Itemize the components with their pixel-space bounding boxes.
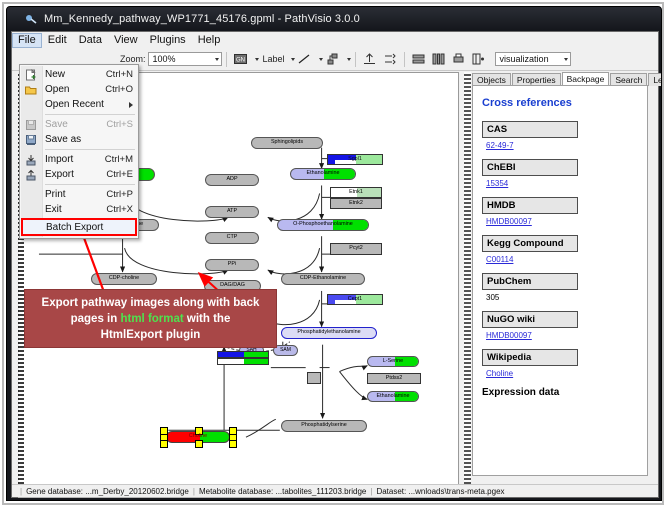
- file-menu-save-as-label: Save as: [45, 134, 133, 145]
- node-etnk1[interactable]: Etnk1: [330, 187, 382, 198]
- application-window: Mm_Kennedy_pathway_WP1771_45176.gpml - P…: [6, 6, 662, 501]
- xref-value-wikipedia[interactable]: Choline: [486, 369, 638, 378]
- tab-legend[interactable]: Legend: [648, 73, 662, 86]
- file-menu-exit-label: Exit: [45, 204, 106, 215]
- order-icon[interactable]: [382, 51, 398, 67]
- status-gene-database-label: Gene database:: [26, 487, 83, 496]
- title-bar: Mm_Kennedy_pathway_WP1771_45176.gpml - P…: [7, 7, 661, 31]
- node-pcyt2[interactable]: Pcyt2: [330, 243, 382, 255]
- menu-data[interactable]: Data: [73, 33, 108, 48]
- label-button[interactable]: Label: [263, 54, 285, 64]
- xref-header-wikipedia: Wikipedia: [482, 349, 578, 366]
- pathvisio-icon: [25, 13, 38, 26]
- export-icon: [24, 168, 38, 181]
- save-as-icon: [24, 133, 38, 146]
- toolbar-separator: [226, 52, 227, 67]
- node-pisd-top[interactable]: [217, 351, 269, 358]
- status-dataset-value: ...wnloads\trans-meta.pgex: [408, 487, 504, 496]
- screenshot-root: Mm_Kennedy_pathway_WP1771_45176.gpml - P…: [0, 0, 670, 509]
- datanode-dropdown-icon[interactable]: [255, 58, 259, 61]
- datanode-icon[interactable]: GN: [233, 51, 249, 67]
- window-title: Mm_Kennedy_pathway_WP1771_45176.gpml - P…: [44, 13, 360, 25]
- node-label: Cept1: [348, 297, 362, 302]
- node-ethanolamine-bottom[interactable]: Ethanolamine: [367, 391, 419, 402]
- panel-tabs: Objects Properties Backpage Search Legen…: [472, 72, 654, 86]
- file-menu-save: Save Ctrl+S: [20, 117, 138, 132]
- xref-header-pubchem: PubChem: [482, 273, 578, 290]
- node-atp[interactable]: ATP: [205, 206, 259, 218]
- save-disk-icon: [24, 118, 38, 131]
- node-label: Ethanolamine: [307, 171, 340, 176]
- node-cept1[interactable]: Cept1: [327, 294, 383, 305]
- visualization-combobox[interactable]: visualization: [495, 52, 571, 66]
- file-menu-new-shortcut: Ctrl+N: [106, 69, 133, 80]
- node-ethanolamine-top[interactable]: Ethanolamine: [290, 168, 356, 180]
- annotation-text: Export pathway images along with back pa…: [36, 295, 266, 343]
- menu-separator-2: [45, 149, 135, 150]
- new-document-icon: [24, 68, 38, 81]
- anchor-icon[interactable]: [325, 51, 341, 67]
- side-panel: Objects Properties Backpage Search Legen…: [464, 72, 654, 486]
- file-menu-save-shortcut: Ctrl+S: [106, 119, 133, 130]
- file-menu-open-recent[interactable]: Open Recent: [20, 97, 138, 112]
- xref-value-cas[interactable]: 62-49-7: [486, 141, 638, 150]
- menu-separator-3: [45, 184, 135, 185]
- file-menu-save-as[interactable]: Save as: [20, 132, 138, 147]
- file-menu-print-label: Print: [45, 189, 106, 200]
- line-dropdown-icon[interactable]: [319, 58, 323, 61]
- expression-data-heading: Expression data: [482, 387, 638, 398]
- file-menu-open[interactable]: Open Ctrl+O: [20, 82, 138, 97]
- node-sphingolipids[interactable]: Sphingolipids: [251, 137, 323, 149]
- node-etnk2[interactable]: Etnk2: [330, 198, 382, 209]
- node-o-phosphoethanolamine[interactable]: O-Phosphoethanolamine: [277, 219, 369, 231]
- node-ptdss2[interactable]: Ptdss2: [367, 373, 421, 384]
- file-menu-popup[interactable]: New Ctrl+N Open Ctrl+O Open Recent: [19, 64, 139, 239]
- annotation-line1: Export pathway images along with back: [42, 297, 260, 309]
- xref-value-pubchem: 305: [486, 293, 638, 302]
- status-metabolite-database-label: Metabolite database:: [199, 487, 273, 496]
- toolbar-separator-3: [404, 52, 405, 67]
- menu-file[interactable]: File: [12, 33, 42, 48]
- xref-header-cas: CAS: [482, 121, 578, 138]
- menu-separator-1: [45, 114, 135, 115]
- resize-handle-s[interactable]: [195, 440, 203, 448]
- node-cdp-ethanolamine[interactable]: CDP-Ethanolamine: [281, 273, 365, 285]
- file-menu-print-shortcut: Ctrl+P: [106, 189, 133, 200]
- file-menu-new[interactable]: New Ctrl+N: [20, 67, 138, 82]
- annotation-line3: HtmlExport plugin: [101, 329, 201, 341]
- node-cdp-choline[interactable]: CDP-choline: [91, 273, 157, 285]
- file-menu-batch-export-label: Batch Export: [46, 222, 130, 233]
- file-menu-export[interactable]: Export Ctrl+E: [20, 167, 138, 182]
- submenu-arrow-icon: [129, 102, 133, 108]
- node-adp[interactable]: ADP: [205, 174, 259, 186]
- file-menu-open-recent-label: Open Recent: [45, 99, 129, 110]
- xref-header-nugo: NuGO wiki: [482, 311, 578, 328]
- label-dropdown-icon[interactable]: [291, 58, 295, 61]
- xref-link-hmdb[interactable]: HMDB00097: [486, 217, 532, 226]
- status-gene-database-value: ...m_Derby_20120602.bridge: [85, 487, 189, 496]
- line-icon[interactable]: [297, 51, 313, 67]
- cross-references-heading: Cross references: [482, 97, 638, 109]
- node-small-box[interactable]: [307, 372, 321, 384]
- resize-handle-se[interactable]: [229, 440, 237, 448]
- menu-help[interactable]: Help: [192, 33, 227, 48]
- client-area: File Edit Data View Plugins Help Zoom: 1…: [11, 31, 659, 498]
- file-menu-new-label: New: [45, 69, 106, 80]
- xref-value-hmdb[interactable]: HMDB00097: [486, 217, 638, 226]
- file-menu-exit-shortcut: Ctrl+X: [106, 204, 133, 215]
- xref-link-cas[interactable]: 62-49-7: [486, 141, 514, 150]
- file-menu-open-label: Open: [45, 84, 105, 95]
- zoom-value: 100%: [153, 54, 176, 64]
- annotation-line2-highlight: html format: [120, 313, 183, 325]
- backpage-content: Cross references CAS 62-49-7 ChEBI 15354…: [472, 85, 648, 476]
- toolbar-separator-2: [355, 52, 356, 67]
- node-sgpl1[interactable]: Sgpl1: [327, 154, 383, 165]
- node-label: Etnk1: [349, 190, 363, 195]
- stack-icon[interactable]: [411, 51, 427, 67]
- xref-header-chebi: ChEBI: [482, 159, 578, 176]
- xref-header-kegg: Kegg Compound: [482, 235, 578, 252]
- file-menu-open-shortcut: Ctrl+O: [105, 84, 133, 95]
- menu-bar: File Edit Data View Plugins Help: [12, 32, 658, 49]
- status-dataset-label: Dataset:: [376, 487, 406, 496]
- xref-value-kegg[interactable]: C00114: [486, 255, 638, 264]
- file-menu-save-label: Save: [45, 119, 106, 130]
- svg-text:GN: GN: [236, 58, 245, 64]
- file-menu-exit[interactable]: Exit Ctrl+X: [20, 202, 138, 217]
- annotation-line2-pre: pages in: [71, 313, 121, 325]
- menu-plugins[interactable]: Plugins: [144, 33, 192, 48]
- node-phosphatidylserine[interactable]: Phosphatidylserine: [281, 420, 367, 432]
- file-menu-export-label: Export: [45, 169, 106, 180]
- menu-edit[interactable]: Edit: [42, 33, 73, 48]
- node-ctp[interactable]: CTP: [205, 232, 259, 244]
- xref-value-chebi[interactable]: 15354: [486, 179, 638, 188]
- chevron-down-icon-2: [564, 58, 568, 61]
- print-icon[interactable]: [451, 51, 467, 67]
- selected-node-group[interactable]: Choline: [160, 427, 236, 446]
- zoom-combobox[interactable]: 100%: [148, 52, 222, 66]
- status-bar: | Gene database: ...m_Derby_20120602.bri…: [12, 484, 658, 497]
- file-menu-import-shortcut: Ctrl+M: [105, 154, 133, 165]
- xref-link-chebi[interactable]: 15354: [486, 179, 508, 188]
- annotation-line2-post: with the: [184, 313, 231, 325]
- import-icon: [24, 153, 38, 166]
- panel-drag-handle[interactable]: [464, 72, 471, 486]
- status-metabolite-database-value: ...tabolites_111203.bridge: [275, 487, 366, 496]
- node-label: Choline: [189, 434, 207, 439]
- chevron-down-icon: [215, 58, 219, 61]
- xref-link-nugo[interactable]: HMDB00097: [486, 331, 532, 340]
- resize-handle-sw[interactable]: [160, 440, 168, 448]
- node-label: Sgpl1: [348, 157, 362, 162]
- annotation-callout: Export pathway images along with back pa…: [24, 289, 277, 348]
- xref-link-kegg[interactable]: C00114: [486, 255, 513, 264]
- node-label: L-Serine: [383, 359, 403, 364]
- file-menu-print[interactable]: Print Ctrl+P: [20, 187, 138, 202]
- file-menu-export-shortcut: Ctrl+E: [106, 169, 133, 180]
- menu-view[interactable]: View: [108, 33, 144, 48]
- zoom-label: Zoom:: [120, 54, 146, 64]
- node-ppi[interactable]: PPi: [205, 259, 259, 271]
- open-folder-icon: [24, 83, 38, 96]
- xref-link-wikipedia[interactable]: Choline: [486, 369, 513, 378]
- node-phosphatidylethanolamine[interactable]: Phosphatidylethanolamine: [281, 327, 377, 339]
- sidebar-icon[interactable]: [471, 51, 487, 67]
- anchor-dropdown-icon[interactable]: [347, 58, 351, 61]
- xref-value-nugo[interactable]: HMDB00097: [486, 331, 638, 340]
- node-pisd-bottom[interactable]: [217, 358, 269, 365]
- tab-backpage[interactable]: Backpage: [562, 72, 610, 86]
- file-menu-import[interactable]: Import Ctrl+M: [20, 152, 138, 167]
- file-menu-import-label: Import: [45, 154, 105, 165]
- file-menu-batch-export[interactable]: Batch Export: [21, 218, 137, 236]
- node-l-serine[interactable]: L-Serine: [367, 356, 419, 367]
- node-label: Ethanolamine: [377, 394, 410, 399]
- distribute-icon[interactable]: [431, 51, 447, 67]
- node-label: O-Phosphoethanolamine: [293, 222, 353, 227]
- xref-header-hmdb: HMDB: [482, 197, 578, 214]
- align-icon[interactable]: [362, 51, 378, 67]
- visualization-value: visualization: [500, 54, 549, 64]
